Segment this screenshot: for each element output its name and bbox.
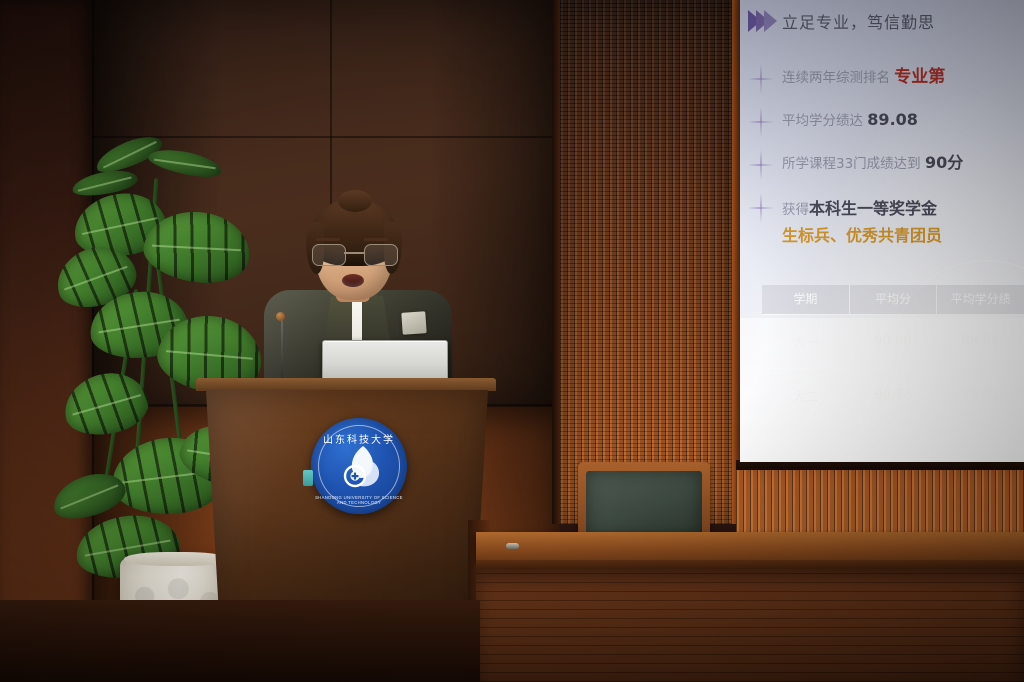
microphone-head-icon [276, 312, 285, 321]
slat-column-edge-right [732, 0, 740, 524]
desk [476, 532, 1024, 682]
eyeglass-lens [364, 244, 398, 266]
blazer-pocket-square [401, 311, 426, 335]
table-header-cell: 平均分 [849, 285, 936, 315]
speaker-eyebrow [316, 238, 340, 241]
table-row: 大一 90.08 88.61 [762, 315, 1024, 369]
table-row: 大二 90.76 89.83 [762, 369, 1024, 423]
slide-bullet-item: 平均学分绩达 89.08 [748, 105, 1024, 137]
podium-top-surface [196, 378, 496, 391]
wood-slat-column [560, 0, 736, 524]
eyeglass-lens [312, 244, 346, 266]
sparkle-bullet-icon [748, 150, 774, 180]
slide-bullet-list: 连续两年综测排名 专业第 平均学分绩达 89.08 所学课程33门成绩达到 90… [748, 62, 1024, 260]
sparkle-bullet-icon [748, 107, 774, 137]
table-header-cell: 学期 [762, 285, 849, 315]
table-cell-gpa: 89.83 [937, 369, 1024, 423]
speaker-eyebrow [364, 238, 388, 241]
slide-bullet-item: 连续两年综测排名 专业第 [748, 62, 1024, 94]
slide-bullet-text: 获得本科生一等奖学金生标兵、优秀共青团员 [782, 191, 942, 249]
slide-bullet-text: 连续两年综测排名 专业第 [782, 62, 945, 89]
emblem-bird-icon [333, 442, 385, 494]
bullet-highlight: 90分 [925, 153, 963, 172]
plant-leaf [147, 145, 224, 182]
projection-screen: 立足专业，笃信勤思 连续两年综测排名 专业第 平均学分绩达 89.08 所学课程… [740, 0, 1024, 462]
table-cell-gpa: 88.61 [937, 315, 1024, 369]
slide-title-row: 立足专业，笃信勤思 [748, 9, 935, 33]
speaker-mouth [342, 274, 364, 287]
slide-bullet-text: 平均学分绩达 89.08 [782, 105, 918, 131]
slide-title: 立足专业，笃信勤思 [782, 9, 935, 33]
presentation-scene: 立足专业，笃信勤思 连续两年综测排名 专业第 平均学分绩达 89.08 所学课程… [0, 0, 1024, 682]
sparkle-bullet-icon [748, 64, 774, 94]
table-header-row: 学期 平均分 平均学分绩 [762, 285, 1024, 315]
table-cell-term: 大二 [762, 369, 849, 423]
eyeglasses-icon [310, 244, 398, 264]
slide-bullet-text: 所学课程33门成绩达到 90分 [782, 148, 963, 174]
slide-bullet-item: 所学课程33门成绩达到 90分 [748, 148, 1024, 180]
slide-scores-table: 学期 平均分 平均学分绩 大一 90.08 88.61 大二 90.76 89.… [762, 285, 1024, 423]
slide-bullet-item: 获得本科生一等奖学金生标兵、优秀共青团员 [748, 191, 1024, 249]
bullet-highlight: 本科生一等奖学金 [809, 199, 937, 218]
microphone-stem [281, 318, 283, 380]
desk-top-surface [476, 532, 1024, 562]
emblem-side-tag [303, 470, 313, 486]
bullet-highlight: 89.08 [867, 110, 918, 129]
university-emblem: 山东科技大学 SHANDONG UNIVERSITY OF SCIENCE AN… [311, 418, 407, 514]
stage-floor [0, 600, 480, 682]
speaker-hair-bun [338, 190, 372, 212]
chevron-right-icon [748, 10, 772, 32]
eyeglass-bridge [344, 252, 364, 254]
bullet-highlight-secondary: 生标兵、优秀共青团员 [782, 226, 942, 245]
bullet-highlight: 专业第 [894, 67, 945, 87]
table-cell-average: 90.08 [849, 315, 936, 369]
table-cell-term: 大一 [762, 315, 849, 369]
desk-front-panel [476, 569, 1024, 682]
chair-backrest-pad [586, 471, 702, 540]
desk-cable-grommet [506, 543, 519, 549]
table-cell-average: 90.76 [849, 369, 936, 423]
sparkle-bullet-icon [748, 193, 774, 223]
table-header-cell: 平均学分绩 [937, 285, 1024, 315]
emblem-name-en: SHANDONG UNIVERSITY OF SCIENCE AND TECHN… [311, 495, 407, 505]
chair [578, 462, 710, 540]
